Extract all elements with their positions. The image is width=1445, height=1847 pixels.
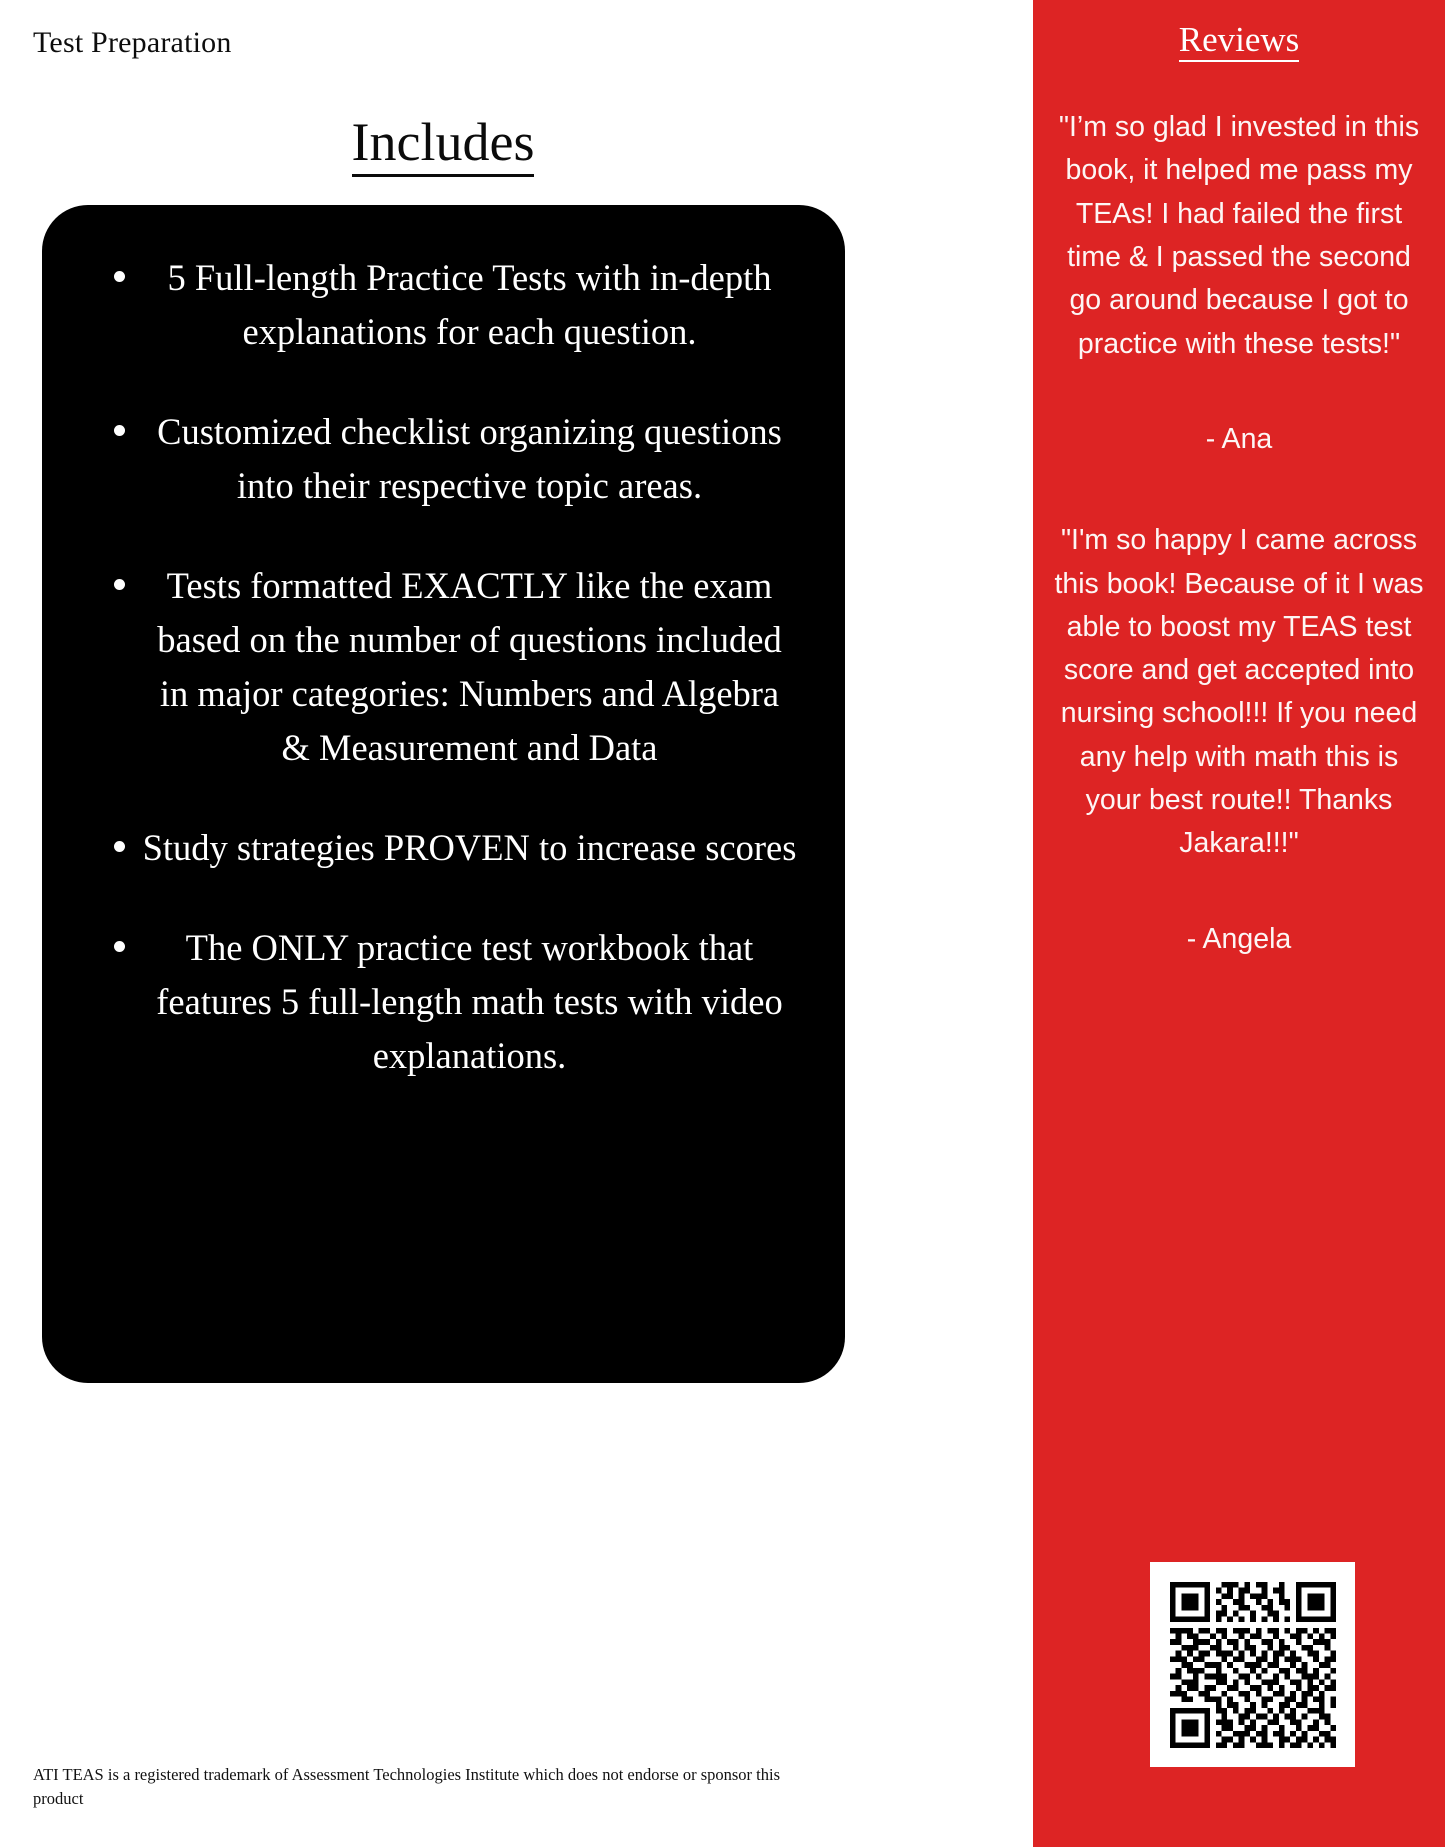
includes-heading: Includes (0, 114, 886, 171)
bullet-dot-icon (114, 941, 125, 952)
list-item: The ONLY practice test workbook that fea… (72, 921, 815, 1083)
reviews-panel: Reviews "I’m so glad I invested in this … (1033, 0, 1445, 1847)
list-item-text: Customized checklist organizing question… (157, 411, 782, 506)
list-item-text: Study strategies PROVEN to increase scor… (143, 827, 797, 868)
reviews-divider-spacer (1054, 461, 1424, 519)
reviews-heading: Reviews (1033, 20, 1445, 60)
list-item-text: The ONLY practice test workbook that fea… (156, 927, 782, 1076)
review-author: - Ana (1054, 366, 1424, 461)
includes-feature-panel: 5 Full-length Practice Tests with in-dep… (42, 205, 845, 1383)
qr-code-icon[interactable] (1170, 1582, 1336, 1748)
bullet-dot-icon (114, 579, 125, 590)
review-author: - Angela (1054, 866, 1424, 961)
reviews-heading-text: Reviews (1179, 20, 1300, 62)
includes-heading-text: Includes (352, 112, 535, 177)
list-item-text: 5 Full-length Practice Tests with in-dep… (168, 257, 772, 352)
page-title: Test Preparation (33, 26, 232, 60)
bullet-dot-icon (114, 271, 125, 282)
review-quote: "I’m so glad I invested in this book, it… (1054, 106, 1424, 366)
list-item-text: Tests formatted EXACTLY like the exam ba… (157, 565, 781, 768)
list-item: 5 Full-length Practice Tests with in-dep… (72, 251, 815, 359)
reviews-list: "I’m so glad I invested in this book, it… (1054, 106, 1424, 961)
feature-bullet-list: 5 Full-length Practice Tests with in-dep… (72, 251, 815, 1083)
main-content-column: Test Preparation Includes 5 Full-length … (0, 0, 1033, 1847)
review-quote: "I'm so happy I came across this book! B… (1054, 519, 1424, 866)
bullet-dot-icon (114, 841, 125, 852)
list-item: Study strategies PROVEN to increase scor… (72, 821, 815, 875)
list-item: Customized checklist organizing question… (72, 405, 815, 513)
qr-code-card[interactable] (1150, 1562, 1355, 1767)
bullet-dot-icon (114, 425, 125, 436)
list-item: Tests formatted EXACTLY like the exam ba… (72, 559, 815, 775)
trademark-disclaimer: ATI TEAS is a registered trademark of As… (33, 1763, 823, 1811)
